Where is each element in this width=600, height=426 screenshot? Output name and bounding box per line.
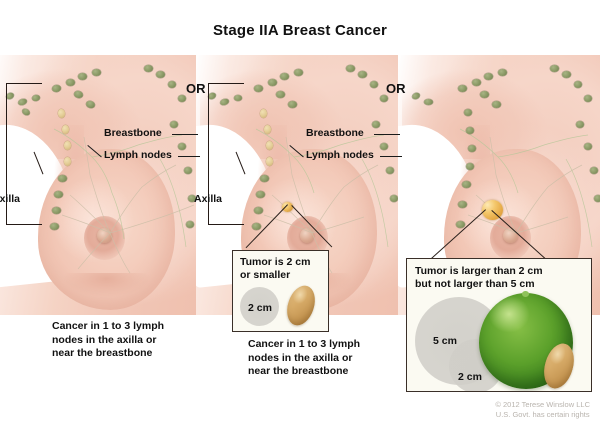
caption-line: near the breastbone	[52, 347, 164, 361]
caption-line: Cancer in 1 to 3 lymph	[248, 338, 360, 352]
leader-breastbone	[172, 134, 198, 135]
caption-line: Cancer in 1 to 3 lymph	[52, 320, 164, 334]
label-lymph-nodes-2: Lymph nodes	[306, 149, 374, 161]
inset-title-line: Tumor is 2 cm	[240, 256, 310, 269]
copyright-credit: © 2012 Terese Winslow LLC U.S. Govt. has…	[495, 400, 590, 420]
peanut-tumor-2	[282, 282, 319, 329]
lime-stem-tip	[522, 291, 529, 297]
label-breastbone-1: Breastbone	[104, 127, 162, 139]
inset-box-2: Tumor is 2 cm or smaller 2 cm	[232, 250, 329, 332]
leader-breastbone	[374, 134, 400, 135]
reference-label-2cm: 2 cm	[458, 371, 482, 383]
or-separator-2: OR	[386, 81, 406, 96]
label-breastbone-2: Breastbone	[306, 127, 364, 139]
inset-title-line: but not larger than 5 cm	[415, 278, 543, 291]
caption-line: nodes in the axilla or	[52, 334, 164, 348]
breast-illustration-1	[0, 55, 200, 315]
label-axilla-1: Axilla	[0, 193, 20, 205]
label-axilla-2: Axilla	[194, 193, 222, 205]
figure-canvas: Stage IIA Breast Cancer OR OR	[0, 0, 600, 426]
inset-title-line: or smaller	[240, 269, 310, 282]
credit-line-1: © 2012 Terese Winslow LLC	[495, 400, 590, 410]
reference-label-5cm: 5 cm	[433, 335, 457, 347]
inset-title-2: Tumor is 2 cm or smaller	[240, 256, 310, 282]
leader-lymph-nodes-right	[380, 156, 402, 157]
caption-panel-1: Cancer in 1 to 3 lymph nodes in the axil…	[52, 320, 164, 361]
caption-panel-2: Cancer in 1 to 3 lymph nodes in the axil…	[248, 338, 360, 379]
credit-line-2: U.S. Govt. has certain rights	[495, 410, 590, 420]
label-lymph-nodes-1: Lymph nodes	[104, 149, 172, 161]
inset-box-3: Tumor is larger than 2 cm but not larger…	[406, 258, 592, 392]
reference-label-2cm: 2 cm	[248, 302, 272, 314]
caption-line: nodes in the axilla or	[248, 352, 360, 366]
or-separator-1: OR	[186, 81, 206, 96]
caption-line: near the breastbone	[248, 365, 360, 379]
inset-title-line: Tumor is larger than 2 cm	[415, 265, 543, 278]
page-title: Stage IIA Breast Cancer	[0, 22, 600, 39]
inset-title-3: Tumor is larger than 2 cm but not larger…	[415, 265, 543, 291]
panel-1: Breastbone Lymph nodes Axilla	[0, 55, 200, 355]
leader-lymph-nodes-right	[178, 156, 200, 157]
